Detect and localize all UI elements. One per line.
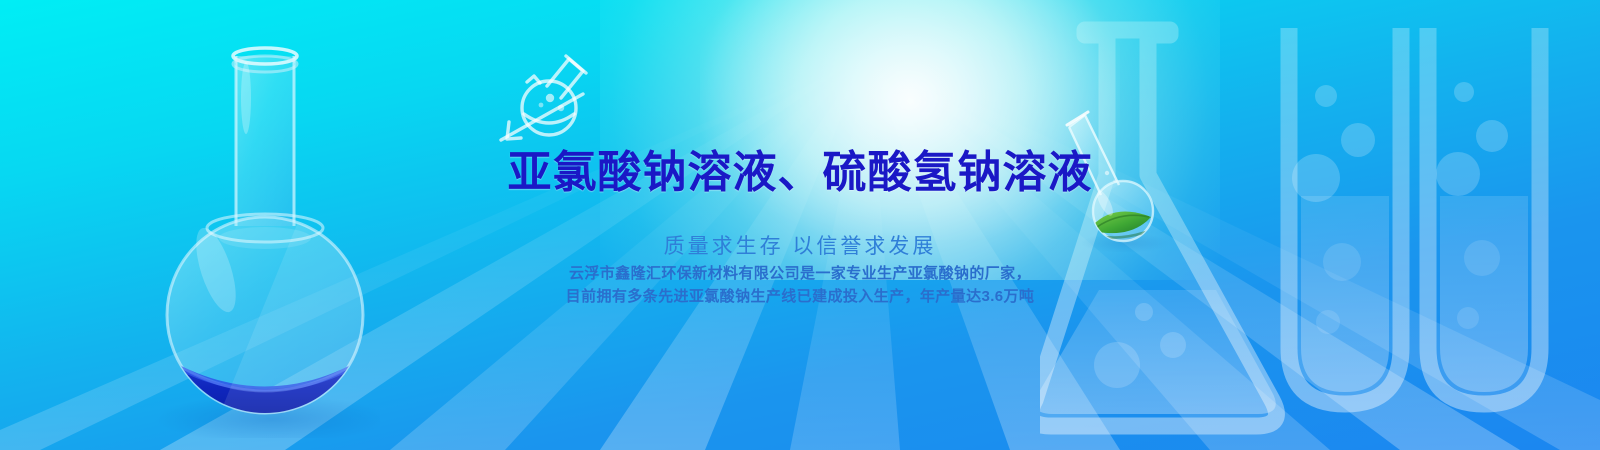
banner-slogan: 质量求生存 以信誉求发展 xyxy=(0,230,1600,260)
sunburst-rays xyxy=(0,0,1600,450)
test-tube-watermark-right xyxy=(1428,28,1540,404)
center-glow xyxy=(600,0,1220,280)
test-tube-watermark-left xyxy=(1289,28,1401,404)
center-glow-inner xyxy=(700,0,1120,240)
lineart-round-flask-icon xyxy=(487,46,597,154)
erlenmeyer-flask-watermark xyxy=(1040,30,1276,426)
banner-description-line-2: 目前拥有多条先进亚氯酸钠生产线已建成投入生产，年产量达3.6万吨 xyxy=(0,285,1600,308)
banner-copy: 亚氯酸钠溶液、硫酸氢钠溶液 质量求生存 以信誉求发展 云浮市鑫隆汇环保新材料有限… xyxy=(0,0,1600,450)
banner-headline: 亚氯酸钠溶液、硫酸氢钠溶液 xyxy=(0,150,1600,196)
chemistry-watermark-group xyxy=(1040,0,1600,450)
banner-description-line-1: 云浮市鑫隆汇环保新材料有限公司是一家专业生产亚氯酸钠的厂家， xyxy=(0,262,1600,285)
tilted-flask-leaf-photo xyxy=(1057,107,1177,252)
round-bottom-flask-photo xyxy=(150,38,380,438)
promo-banner: 亚氯酸钠溶液、硫酸氢钠溶液 质量求生存 以信誉求发展 云浮市鑫隆汇环保新材料有限… xyxy=(0,0,1600,450)
banner-description: 云浮市鑫隆汇环保新材料有限公司是一家专业生产亚氯酸钠的厂家， 目前拥有多条先进亚… xyxy=(0,262,1600,308)
